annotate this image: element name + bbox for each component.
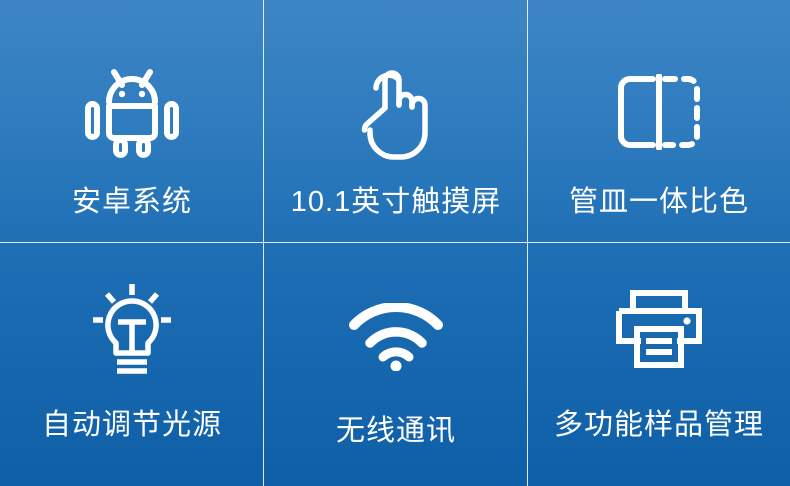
feature-label: 管皿一体比色 xyxy=(569,188,749,217)
lightbulb-icon xyxy=(87,275,177,383)
wifi-icon xyxy=(348,283,444,391)
feature-label: 多功能样品管理 xyxy=(554,411,764,440)
feature-label: 10.1英寸触摸屏 xyxy=(291,188,501,217)
android-robot-icon xyxy=(84,58,180,166)
feature-cell-touchscreen[interactable]: 10.1英寸触摸屏 xyxy=(264,0,528,243)
feature-cell-auto-light[interactable]: 自动调节光源 xyxy=(0,243,264,486)
feature-label: 无线通讯 xyxy=(336,417,456,446)
feature-cell-android-system[interactable]: 安卓系统 xyxy=(0,0,264,243)
feature-label: 安卓系统 xyxy=(72,188,192,217)
feature-cell-sample-manage[interactable]: 多功能样品管理 xyxy=(528,243,790,486)
feature-grid: 安卓系统 10.1英寸触摸屏 管皿一体比色 xyxy=(0,0,790,486)
feature-label: 自动调节光源 xyxy=(42,411,222,440)
touch-hand-icon xyxy=(351,58,441,166)
split-panel-icon xyxy=(616,58,702,166)
feature-cell-tube-cuvette[interactable]: 管皿一体比色 xyxy=(528,0,790,243)
printer-icon xyxy=(615,275,703,383)
feature-cell-wireless[interactable]: 无线通讯 xyxy=(264,243,528,486)
